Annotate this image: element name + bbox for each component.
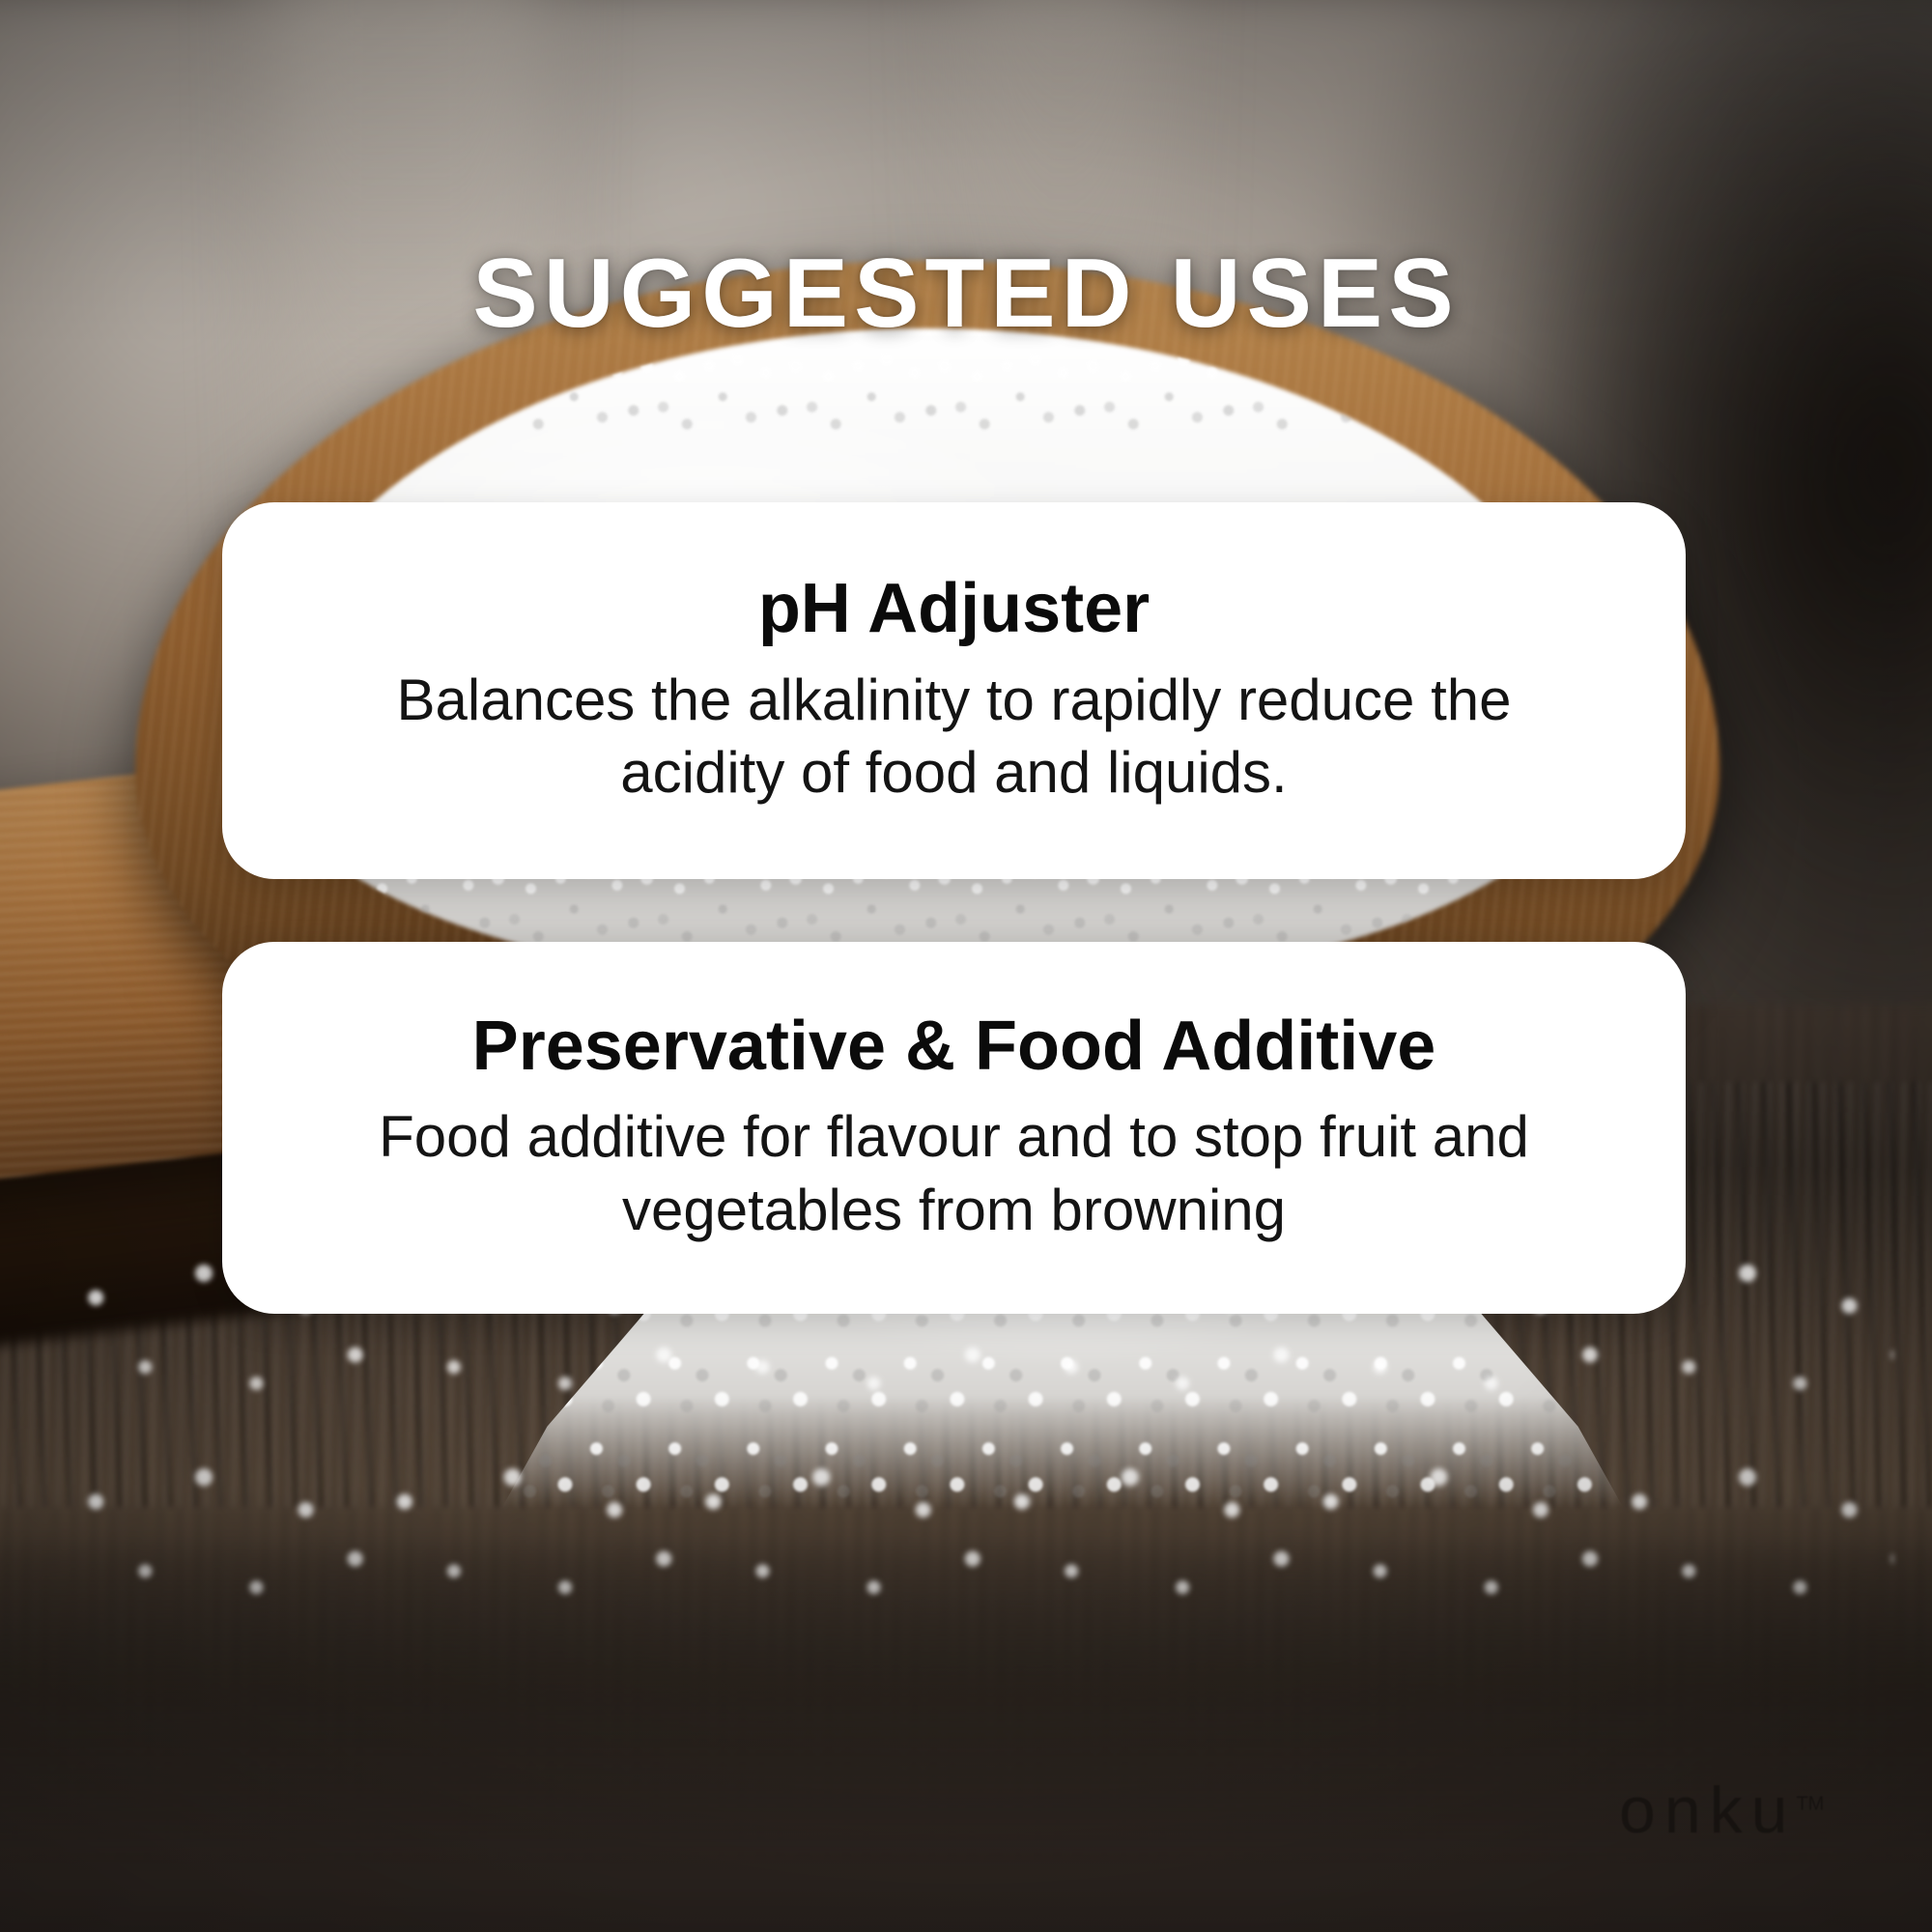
use-card-body: Food additive for flavour and to stop fr… [336, 1100, 1573, 1246]
brand-watermark: onkuTM [1619, 1777, 1824, 1843]
use-card-title: Preservative & Food Additive [472, 1009, 1436, 1083]
infographic-page: SUGGESTED USES pH Adjuster Balances the … [0, 0, 1932, 1932]
use-card-ph-adjuster: pH Adjuster Balances the alkalinity to r… [222, 502, 1686, 879]
use-card-preservative-food-additive: Preservative & Food Additive Food additi… [222, 942, 1686, 1314]
page-title: SUGGESTED USES [0, 245, 1932, 343]
use-card-title: pH Adjuster [758, 572, 1150, 645]
use-card-body: Balances the alkalinity to rapidly reduc… [336, 664, 1573, 810]
content-overlay: SUGGESTED USES pH Adjuster Balances the … [0, 0, 1932, 1932]
watermark-trademark-symbol: TM [1796, 1793, 1824, 1814]
watermark-text: onku [1619, 1774, 1796, 1847]
